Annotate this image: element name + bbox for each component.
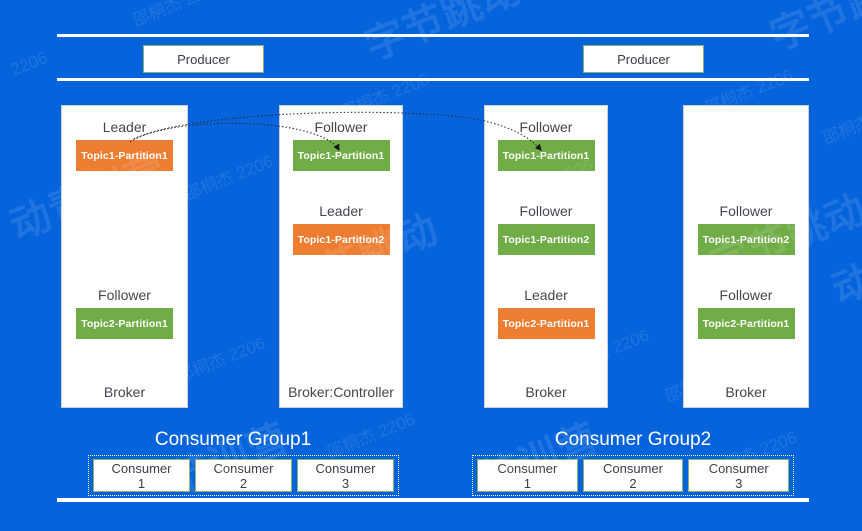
watermark-text: 邵桐杰 2206 (128, 0, 224, 31)
partition-slot: Leader Topic2-Partition1 (485, 274, 607, 358)
replica-role-label: Follower (315, 119, 368, 135)
partition-slot: Follower Topic1-Partition2 (485, 190, 607, 274)
broker-name-label: Broker (485, 384, 607, 407)
partition-box[interactable]: Topic2-Partition1 (498, 308, 595, 339)
partition-box[interactable]: Topic1-Partition2 (498, 224, 595, 255)
consumer-box[interactable]: Consumer 1 (93, 459, 190, 492)
divider-middle (57, 78, 809, 81)
consumer-index: 3 (342, 476, 349, 491)
consumer-index: 3 (735, 476, 742, 491)
replica-role-label: Follower (520, 203, 573, 219)
watermark-text: 字节跳动 (760, 0, 862, 62)
producer-box-1[interactable]: Producer (143, 45, 264, 73)
partition-slot: Follower Topic2-Partition1 (62, 274, 187, 358)
partition-box[interactable]: Topic2-Partition1 (698, 308, 795, 339)
consumer-index: 1 (524, 476, 531, 491)
partition-box[interactable]: Topic1-Partition2 (698, 224, 795, 255)
consumer-group-title: Consumer Group2 (457, 428, 809, 452)
partition-slot: Follower Topic2-Partition1 (684, 274, 808, 358)
consumer-group-frame: Consumer 1 Consumer 2 Consumer 3 (472, 455, 794, 496)
replica-role-label: Leader (319, 203, 363, 219)
partition-slot (280, 274, 402, 358)
partition-box[interactable]: Topic2-Partition1 (76, 308, 173, 339)
consumer-label: Consumer (214, 461, 274, 476)
partition-slot (62, 190, 187, 274)
consumer-group-title: Consumer Group1 (57, 428, 409, 452)
watermark-text: 动青训营 (822, 201, 862, 316)
partition-box[interactable]: Topic1-Partition1 (76, 140, 173, 171)
partition-slot (684, 106, 808, 190)
consumer-box[interactable]: Consumer 2 (583, 459, 684, 492)
broker-column-2[interactable]: Follower Topic1-Partition1 Leader Topic1… (279, 105, 403, 408)
partition-slot: Leader Topic1-Partition2 (280, 190, 402, 274)
consumer-label: Consumer (603, 461, 663, 476)
watermark-text: 邵桐杰 2206 (818, 91, 862, 149)
replica-role-label: Leader (103, 119, 147, 135)
consumer-box[interactable]: Consumer 3 (688, 459, 789, 492)
producer-box-2[interactable]: Producer (583, 45, 704, 73)
divider-bottom (57, 498, 809, 502)
consumer-label: Consumer (709, 461, 769, 476)
consumer-index: 2 (629, 476, 636, 491)
partition-slot: Leader Topic1-Partition1 (62, 106, 187, 190)
replica-role-label: Leader (524, 287, 568, 303)
consumer-label: Consumer (497, 461, 557, 476)
broker-column-3[interactable]: Follower Topic1-Partition1 Follower Topi… (484, 105, 608, 408)
consumer-index: 2 (240, 476, 247, 491)
partition-box[interactable]: Topic1-Partition2 (293, 224, 390, 255)
watermark-text: 邵桐杰 2206 (180, 147, 276, 205)
replica-role-label: Follower (520, 119, 573, 135)
producer-label: Producer (177, 52, 230, 67)
partition-slot: Follower Topic1-Partition2 (684, 190, 808, 274)
replica-role-label: Follower (720, 287, 773, 303)
partition-slot: Follower Topic1-Partition1 (485, 106, 607, 190)
partition-slot: Follower Topic1-Partition1 (280, 106, 402, 190)
consumer-label: Consumer (316, 461, 376, 476)
broker-name-label: Broker (62, 384, 187, 407)
watermark-text: 2206 (8, 48, 51, 81)
consumer-index: 1 (138, 476, 145, 491)
broker-name-label: Broker (684, 384, 808, 407)
consumer-box[interactable]: Consumer 1 (477, 459, 578, 492)
broker-column-1[interactable]: Leader Topic1-Partition1 Follower Topic2… (61, 105, 188, 408)
broker-name-label: Broker:Controller (280, 384, 402, 407)
consumer-box[interactable]: Consumer 3 (297, 459, 394, 492)
partition-box[interactable]: Topic1-Partition1 (498, 140, 595, 171)
producer-label: Producer (617, 52, 670, 67)
replica-role-label: Follower (720, 203, 773, 219)
replica-role-label: Follower (98, 287, 151, 303)
consumer-label: Consumer (112, 461, 172, 476)
consumer-group-2: Consumer Group2 Consumer 1 Consumer 2 Co… (457, 428, 809, 496)
consumer-box[interactable]: Consumer 2 (195, 459, 292, 492)
divider-top (57, 34, 809, 37)
consumer-group-1: Consumer Group1 Consumer 1 Consumer 2 Co… (57, 428, 409, 496)
partition-box[interactable]: Topic1-Partition1 (293, 140, 390, 171)
consumer-group-frame: Consumer 1 Consumer 2 Consumer 3 (88, 455, 399, 496)
broker-column-4[interactable]: Follower Topic1-Partition2 Follower Topi… (683, 105, 809, 408)
